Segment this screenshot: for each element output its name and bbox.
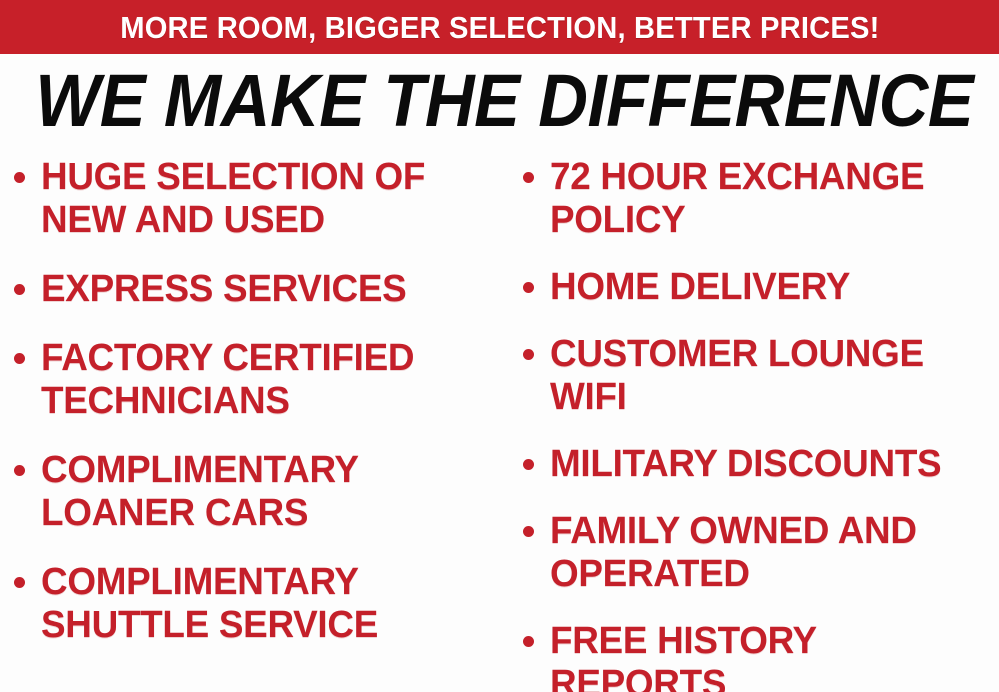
headline-text: WE MAKE THE DIFFERENCE	[35, 62, 973, 140]
benefit-item: CUSTOMER LOUNGE WIFI	[523, 333, 999, 419]
benefit-label: COMPLIMENTARY LOANER CARS	[41, 449, 485, 535]
benefit-item: HOME DELIVERY	[523, 266, 999, 309]
promo-banner: MORE ROOM, BIGGER SELECTION, BETTER PRIC…	[0, 0, 999, 54]
benefit-item: FAMILY OWNED AND OPERATED	[523, 510, 999, 596]
benefit-label: EXPRESS SERVICES	[41, 268, 485, 311]
benefit-label: MILITARY DISCOUNTS	[550, 443, 986, 486]
bullet-dot-icon	[14, 465, 25, 476]
bullet-dot-icon	[523, 172, 534, 183]
benefit-item: 72 HOUR EXCHANGE POLICY	[523, 156, 999, 242]
benefit-item: COMPLIMENTARY SHUTTLE SERVICE	[14, 561, 499, 647]
bullet-dot-icon	[523, 459, 534, 470]
benefit-label: FREE HISTORY REPORTS	[550, 620, 986, 692]
bullet-dot-icon	[523, 526, 534, 537]
benefit-item: MILITARY DISCOUNTS	[523, 443, 999, 486]
advertisement-banner: MORE ROOM, BIGGER SELECTION, BETTER PRIC…	[0, 0, 999, 692]
benefit-label: CUSTOMER LOUNGE WIFI	[550, 333, 986, 419]
bullet-dot-icon	[523, 282, 534, 293]
promo-banner-text: MORE ROOM, BIGGER SELECTION, BETTER PRIC…	[120, 12, 879, 43]
benefit-item: FREE HISTORY REPORTS	[523, 620, 999, 692]
benefit-item: EXPRESS SERVICES	[14, 268, 499, 311]
bullet-dot-icon	[523, 636, 534, 647]
bullet-dot-icon	[14, 353, 25, 364]
benefit-label: HUGE SELECTION OF NEW AND USED	[41, 156, 485, 242]
benefits-right-column: 72 HOUR EXCHANGE POLICY HOME DELIVERY CU…	[505, 156, 999, 692]
benefit-label: FACTORY CERTIFIED TECHNICIANS	[41, 337, 485, 423]
benefits-left-column: HUGE SELECTION OF NEW AND USED EXPRESS S…	[0, 156, 505, 673]
benefits-columns: HUGE SELECTION OF NEW AND USED EXPRESS S…	[0, 156, 999, 692]
benefit-label: FAMILY OWNED AND OPERATED	[550, 510, 986, 596]
headline: WE MAKE THE DIFFERENCE	[0, 62, 999, 140]
bullet-dot-icon	[523, 349, 534, 360]
bullet-dot-icon	[14, 577, 25, 588]
benefit-label: 72 HOUR EXCHANGE POLICY	[550, 156, 986, 242]
bullet-dot-icon	[14, 284, 25, 295]
benefit-item: HUGE SELECTION OF NEW AND USED	[14, 156, 499, 242]
benefit-item: COMPLIMENTARY LOANER CARS	[14, 449, 499, 535]
benefit-label: COMPLIMENTARY SHUTTLE SERVICE	[41, 561, 485, 647]
benefit-item: FACTORY CERTIFIED TECHNICIANS	[14, 337, 499, 423]
benefit-label: HOME DELIVERY	[550, 266, 986, 309]
bullet-dot-icon	[14, 172, 25, 183]
